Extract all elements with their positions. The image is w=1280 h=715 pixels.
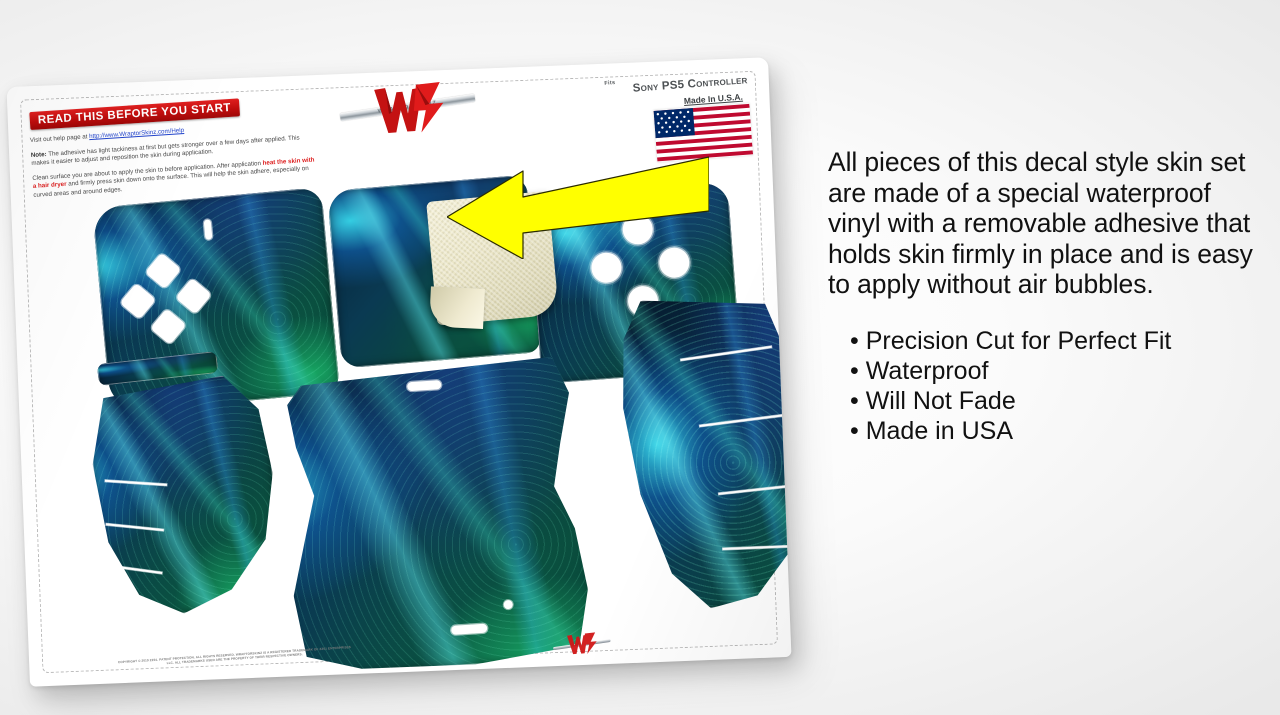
marketing-paragraph: All pieces of this decal style skin set …: [828, 147, 1264, 300]
skin-piece-left-grip: [85, 371, 287, 621]
help-url-link[interactable]: http://www.WraptorSkinz.com/Help: [89, 127, 184, 140]
us-flag-icon: [654, 103, 754, 162]
list-item: Will Not Fade: [850, 386, 1264, 416]
peel-backing-arrow-icon: [447, 155, 709, 259]
wraptorskinz-logo: WRAPTORSKINZ: [336, 74, 480, 144]
logo-watermark: [552, 629, 614, 659]
list-item: Made in USA: [850, 416, 1264, 446]
fits-label: Fits: [604, 80, 615, 87]
wz-monogram-watermark-icon: [564, 631, 600, 657]
marketing-copy: All pieces of this decal style skin set …: [828, 147, 1264, 446]
skin-piece-right-grip: [608, 290, 791, 615]
list-item: Waterproof: [850, 356, 1264, 386]
feature-bullet-list: Precision Cut for Perfect Fit Waterproof…: [850, 326, 1264, 446]
wz-monogram-icon: [368, 79, 450, 141]
list-item: Precision Cut for Perfect Fit: [850, 326, 1264, 356]
skin-sheet: READ THIS BEFORE YOU START Visit out hel…: [7, 57, 792, 686]
skin-piece-front-touchpad: [276, 349, 596, 676]
